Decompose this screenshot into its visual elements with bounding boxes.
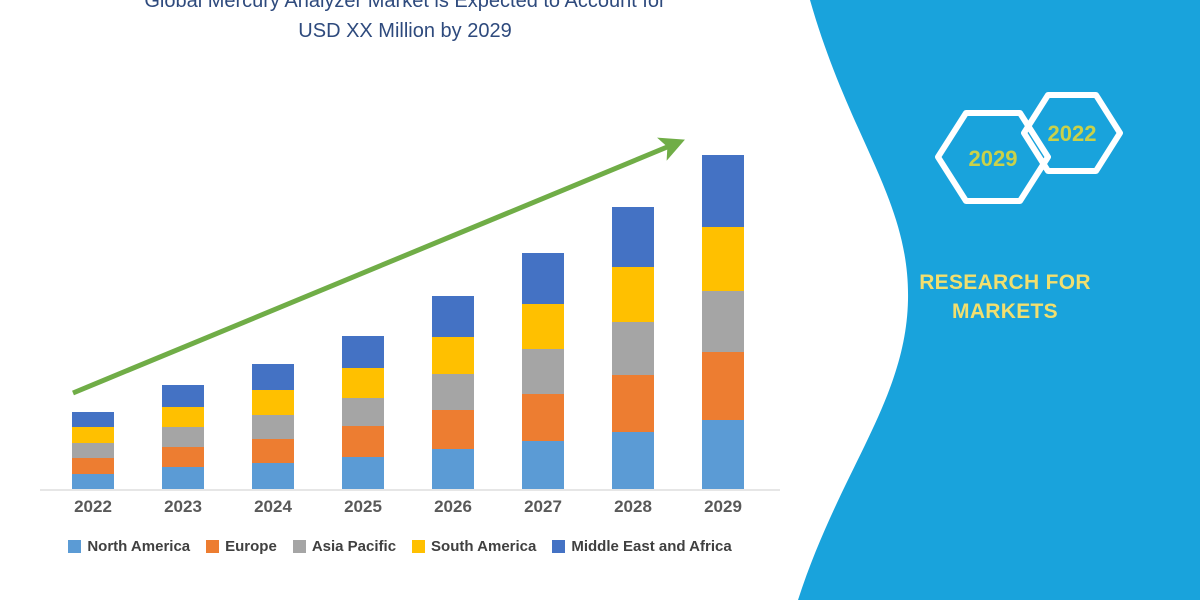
bar-column bbox=[162, 385, 204, 490]
legend-label: Asia Pacific bbox=[312, 538, 396, 555]
bar-segment bbox=[342, 368, 384, 398]
x-axis-tick-label: 2024 bbox=[228, 497, 318, 517]
bar-column bbox=[702, 155, 744, 490]
bar-column bbox=[432, 296, 474, 490]
bar-segment bbox=[612, 322, 654, 375]
chart-legend: North AmericaEuropeAsia PacificSouth Ame… bbox=[0, 538, 800, 555]
legend-item[interactable]: Asia Pacific bbox=[293, 538, 396, 555]
bar-segment bbox=[612, 207, 654, 268]
legend-swatch bbox=[412, 540, 425, 553]
bar-segment bbox=[342, 426, 384, 457]
x-axis-tick-label: 2028 bbox=[588, 497, 678, 517]
x-axis-line bbox=[40, 489, 780, 491]
x-axis-tick-label: 2022 bbox=[48, 497, 138, 517]
legend-swatch bbox=[293, 540, 306, 553]
bar-segment bbox=[252, 439, 294, 464]
bar-segment bbox=[252, 463, 294, 490]
legend-item[interactable]: South America bbox=[412, 538, 536, 555]
legend-item[interactable]: Middle East and Africa bbox=[552, 538, 731, 555]
x-axis-labels: 20222023202420252026202720282029 bbox=[48, 497, 778, 523]
legend-item[interactable]: Europe bbox=[206, 538, 277, 555]
bar-segment bbox=[162, 385, 204, 407]
chart-title: Global Mercury Analyzer Market is Expect… bbox=[60, 0, 750, 46]
bar-segment bbox=[522, 394, 564, 441]
hexagon-2022-label: 2022 bbox=[1048, 121, 1097, 146]
bar-segment bbox=[342, 398, 384, 427]
brand-panel: By Regions, 2022 to 2029 2029 2022 RESEA… bbox=[760, 0, 1200, 600]
x-axis-tick-label: 2023 bbox=[138, 497, 228, 517]
bar-segment bbox=[252, 415, 294, 439]
legend-label: North America bbox=[87, 538, 190, 555]
x-axis-tick-label: 2029 bbox=[678, 497, 768, 517]
hexagon-badge-group: 2029 2022 bbox=[920, 85, 1190, 225]
bar-segment bbox=[72, 458, 114, 473]
hexagon-2029-label: 2029 bbox=[969, 146, 1018, 171]
legend-swatch bbox=[206, 540, 219, 553]
bar-segment bbox=[522, 349, 564, 393]
bar-segment bbox=[612, 432, 654, 491]
bar-segment bbox=[72, 443, 114, 458]
bar-column bbox=[522, 253, 564, 490]
bar-segment bbox=[162, 447, 204, 468]
legend-label: Europe bbox=[225, 538, 277, 555]
bar-segment bbox=[342, 457, 384, 490]
x-axis-tick-label: 2027 bbox=[498, 497, 588, 517]
x-axis-tick-label: 2025 bbox=[318, 497, 408, 517]
bar-segment bbox=[612, 267, 654, 321]
legend-label: South America bbox=[431, 538, 536, 555]
chart-panel: Global Mercury Analyzer Market is Expect… bbox=[0, 0, 800, 600]
bar-segment bbox=[162, 407, 204, 428]
bar-segment bbox=[252, 364, 294, 391]
bar-segment bbox=[432, 449, 474, 490]
bar-segment bbox=[702, 155, 744, 227]
legend-label: Middle East and Africa bbox=[571, 538, 731, 555]
bar-segment bbox=[342, 336, 384, 368]
bar-column bbox=[252, 364, 294, 490]
bar-column bbox=[342, 336, 384, 490]
bar-segment bbox=[162, 427, 204, 447]
bar-segment bbox=[522, 304, 564, 349]
bar-segment bbox=[702, 352, 744, 420]
bar-segment bbox=[72, 427, 114, 442]
bar-segment bbox=[162, 467, 204, 490]
bar-segment bbox=[252, 390, 294, 415]
bar-segment bbox=[72, 474, 114, 490]
bar-segment bbox=[432, 337, 474, 374]
brand-name: RESEARCH FOR MARKETS bbox=[820, 268, 1190, 326]
bar-segment bbox=[432, 374, 474, 410]
legend-item[interactable]: North America bbox=[68, 538, 190, 555]
bar-segment bbox=[612, 375, 654, 431]
bar-column bbox=[612, 207, 654, 490]
legend-swatch bbox=[68, 540, 81, 553]
bar-segment bbox=[72, 412, 114, 427]
stacked-bar-group bbox=[48, 100, 778, 490]
plot-area bbox=[0, 100, 800, 490]
bar-segment bbox=[432, 296, 474, 337]
bar-segment bbox=[702, 420, 744, 490]
bar-segment bbox=[522, 253, 564, 304]
market-report-infographic: Global Mercury Analyzer Market is Expect… bbox=[0, 0, 1200, 600]
bar-segment bbox=[522, 441, 564, 490]
bar-segment bbox=[702, 291, 744, 353]
bar-segment bbox=[432, 410, 474, 449]
legend-swatch bbox=[552, 540, 565, 553]
x-axis-tick-label: 2026 bbox=[408, 497, 498, 517]
bar-column bbox=[72, 412, 114, 490]
brand-panel-title: By Regions, 2022 to 2029 bbox=[820, 0, 1190, 4]
bar-segment bbox=[702, 227, 744, 291]
